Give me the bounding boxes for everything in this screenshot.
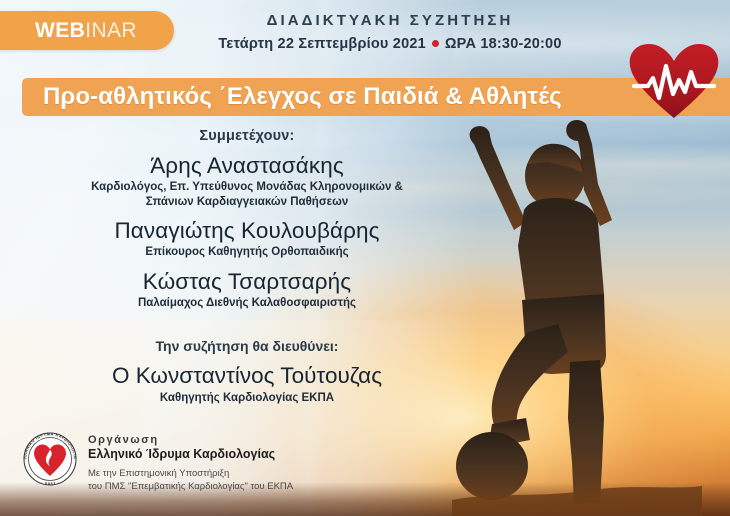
webinar-poster: WEBINAR ΔΙΑΔΙΚΤΥΑΚΗ ΣΥΖΗΤΗΣΗ Τετάρτη 22 … (0, 0, 730, 516)
participants-label: Συμμετέχουν: (14, 128, 480, 144)
speaker-entry: Άρης Αναστασάκης Καρδιολόγος, Επ. Υπεύθυ… (14, 153, 480, 209)
athlete-silhouette-artwork (452, 118, 702, 516)
hellenic-cardiology-foundation-logo: ΕΛΛΗΝΙΚΟ ΙΔΡΥΜΑ ΚΑΡΔΙΟΛΟΓΙΑΣ · 1988 · (22, 431, 78, 487)
event-datetime: Τετάρτη 22 Σεπτεμβρίου 2021ΩΡΑ 18:30-20:… (160, 36, 620, 52)
title-banner: Προ-αθλητικός ΄Ελεγχος σε Παιδιά & Αθλητ… (22, 78, 730, 116)
bullet-dot-icon (432, 40, 439, 47)
scientific-support-text: Με την Επιστημονική Υποστήριξη του ΠΜΣ "… (88, 468, 293, 494)
content-column: Συμμετέχουν: Άρης Αναστασάκης Καρδιολόγο… (14, 128, 480, 404)
speaker-name: Άρης Αναστασάκης (14, 153, 480, 178)
event-date: Τετάρτη 22 Σεπτεμβρίου 2021 (218, 36, 425, 52)
speaker-name: Κώστας Τσαρτσαρής (14, 269, 480, 294)
speaker-role-line: Επίκουρος Καθηγητής Ορθοπαιδικής (14, 245, 480, 259)
moderator-role: Καθηγητής Καρδιολογίας ΕΚΠΑ (14, 392, 480, 404)
speaker-role-line: Παλαίμαχος Διεθνής Καλαθοσφαιριστής (14, 296, 480, 310)
page-title: Προ-αθλητικός ΄Ελεγχος σε Παιδιά & Αθλητ… (43, 83, 562, 111)
footer-organizer-block: ΕΛΛΗΝΙΚΟ ΙΔΡΥΜΑ ΚΑΡΔΙΟΛΟΓΙΑΣ · 1988 · Ορ… (22, 431, 293, 494)
speaker-entry: Παναγιώτης Κουλουβάρης Επίκουρος Καθηγητ… (14, 218, 480, 260)
webinar-badge-bold-text: WEB (35, 19, 85, 43)
webinar-badge-light-text: INAR (85, 19, 137, 43)
moderator-block: Την συζήτηση θα διευθύνει: Ο Κωνσταντίνο… (14, 338, 480, 404)
heart-ecg-icon (626, 42, 722, 122)
organizer-name: Ελληνικό Ίδρυμα Καρδιολογίας (88, 447, 293, 461)
webinar-badge: WEBINAR (0, 11, 174, 50)
speaker-role: Παλαίμαχος Διεθνής Καλαθοσφαιριστής (14, 296, 480, 310)
speaker-entry: Κώστας Τσαρτσαρής Παλαίμαχος Διεθνής Καλ… (14, 269, 480, 311)
scientific-support-line: Με την Επιστημονική Υποστήριξη (88, 468, 293, 481)
speaker-role-line: Σπάνιων Καρδιαγγειακών Παθήσεων (14, 195, 480, 209)
moderator-name: Ο Κωνσταντίνος Τούτουζας (14, 363, 480, 389)
scientific-support-line: του ΠΜΣ "Επεμβατικής Καρδιολογίας" του Ε… (88, 481, 293, 494)
speaker-role-line: Καρδιολόγος, Επ. Υπεύθυνος Μονάδας Κληρο… (14, 180, 480, 194)
speaker-name: Παναγιώτης Κουλουβάρης (14, 218, 480, 243)
event-kicker: ΔΙΑΔΙΚΤΥΑΚΗ ΣΥΖΗΤΗΣΗ (160, 12, 620, 29)
header-block: ΔΙΑΔΙΚΤΥΑΚΗ ΣΥΖΗΤΗΣΗ Τετάρτη 22 Σεπτεμβρ… (160, 12, 620, 52)
footer-text-block: Οργάνωση Ελληνικό Ίδρυμα Καρδιολογίας Με… (88, 431, 293, 494)
speaker-role: Επίκουρος Καθηγητής Ορθοπαιδικής (14, 245, 480, 259)
speaker-role: Καρδιολόγος, Επ. Υπεύθυνος Μονάδας Κληρο… (14, 180, 480, 209)
event-time: ΩΡΑ 18:30-20:00 (445, 36, 562, 52)
organizer-label: Οργάνωση (88, 434, 293, 446)
moderator-label: Την συζήτηση θα διευθύνει: (14, 338, 480, 354)
